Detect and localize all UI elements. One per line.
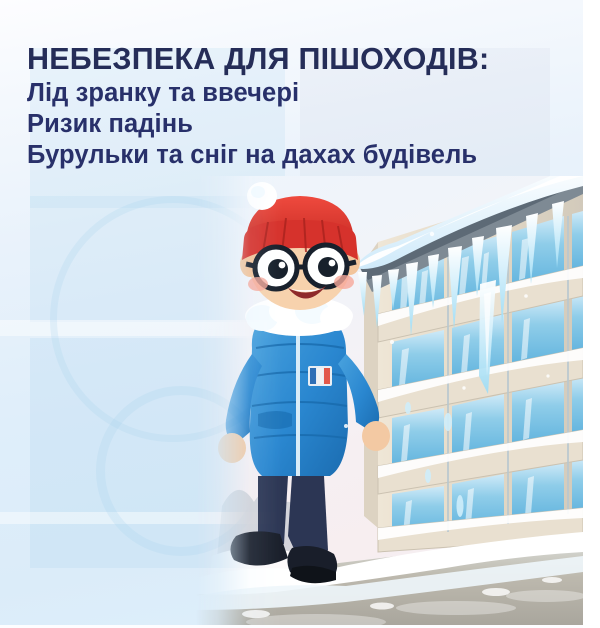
right-margin-strip (583, 0, 600, 628)
winter-street-illustration (196, 176, 583, 628)
hazard-line-3: Бурульки та сніг на дахах будівель (27, 140, 583, 171)
boy-left-eye (268, 259, 288, 279)
boy-jacket-zipper (296, 316, 300, 476)
hazard-line-2: Ризик падінь (27, 109, 583, 140)
boy-right-eye (318, 257, 338, 277)
jacket-flag-badge (308, 366, 332, 386)
boy-right-hand (362, 421, 390, 451)
boy-left-hand (218, 433, 246, 463)
message-block: НЕБЕЗПЕКА ДЛЯ ПІШОХОДІВ: Лід зранку та в… (27, 44, 583, 171)
hazard-line-1: Лід зранку та ввечері (27, 78, 583, 109)
boy-back-boot (230, 531, 288, 565)
page-title: НЕБЕЗПЕКА ДЛЯ ПІШОХОДІВ: (27, 44, 583, 75)
illustration-svg (196, 176, 583, 628)
poster-canvas: НЕБЕЗПЕКА ДЛЯ ПІШОХОДІВ: Лід зранку та в… (0, 0, 600, 628)
